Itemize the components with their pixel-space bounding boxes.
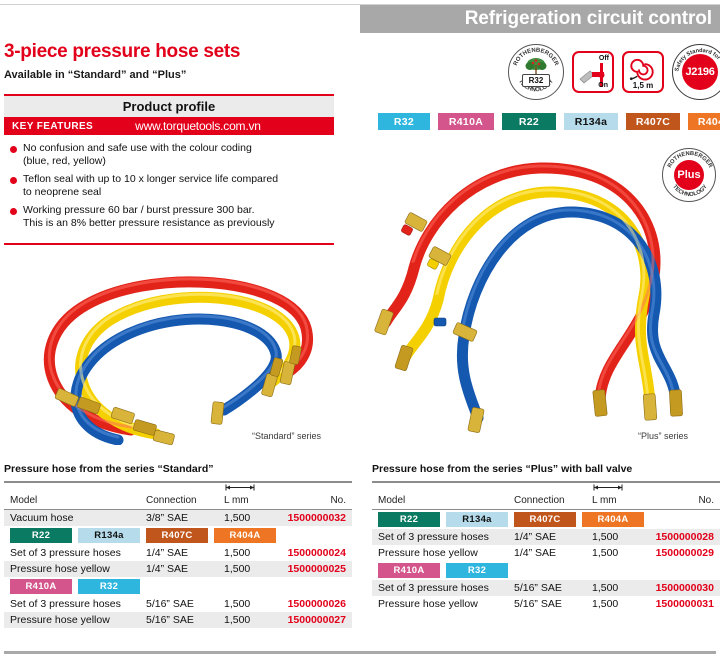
bottom-divider: [4, 651, 716, 654]
cell-article-number: 1500000031: [646, 598, 720, 610]
cell-model: Pressure hose yellow: [372, 598, 514, 610]
page-subtitle: Available in “Standard” and “Plus”: [4, 68, 352, 82]
column-header-length: L mm: [592, 495, 646, 506]
cell-connection: 1/4” SAE: [146, 547, 224, 559]
refrigerant-badge-r32: R32: [78, 579, 140, 594]
cell-model: Set of 3 pressure hoses: [372, 582, 514, 594]
column-header-length: L mm: [224, 495, 278, 506]
cell-article-number: 1500000029: [646, 547, 720, 559]
column-header-number: No.: [646, 495, 720, 506]
cell-length: 1,500: [592, 598, 646, 610]
refrigerant-badge-r134a: R134a: [564, 113, 618, 130]
cell-connection: 5/16” SAE: [514, 582, 592, 594]
valve-lever-glyph: [574, 53, 616, 95]
product-profile-label: Product profile: [123, 99, 215, 114]
column-header-model: Model: [4, 495, 146, 506]
refrigerant-badge-r22: R22: [502, 113, 556, 130]
left-column: 3-piece pressure hose sets Available in …: [4, 40, 352, 245]
valve-on-label: On: [598, 82, 608, 89]
page-header-title: Refrigeration circuit control: [465, 8, 712, 30]
cell-article-number: 1500000028: [646, 531, 720, 543]
refrigerant-code-r32: R32: [522, 74, 550, 87]
column-header-connection: Connection: [146, 495, 224, 506]
table-header-row: Model Connection L mm No.: [4, 483, 352, 509]
cell-length: 1,500: [592, 531, 646, 543]
refrigerant-badge-r22: R22: [10, 528, 72, 543]
bullet-icon: [10, 177, 17, 184]
standard-table-body: Vacuum hose3/8” SAE1,5001500000032R22R13…: [4, 510, 352, 628]
key-feature-text: Working pressure 60 bar / burst pressure…: [23, 204, 275, 230]
refrigerant-badge-r32: R32: [378, 113, 430, 130]
table-refrigerant-badge-row: R22R134aR407CR404A: [372, 510, 720, 529]
cell-connection: 5/16” SAE: [146, 614, 224, 626]
hose-length-label: 1,5 m: [624, 81, 662, 90]
cell-connection: 1/4” SAE: [514, 531, 592, 543]
cell-article-number: 1500000027: [278, 614, 352, 626]
column-header-model: Model: [372, 495, 514, 506]
website-url[interactable]: www.torquetools.com.vn: [135, 119, 261, 133]
ball-valve-off-on-icon: Off On: [572, 51, 614, 93]
cell-connection: 5/16” SAE: [514, 598, 592, 610]
column-header-number: No.: [278, 495, 352, 506]
bullet-icon: [10, 208, 17, 215]
cell-model: Set of 3 pressure hoses: [4, 598, 146, 610]
profile-bottom-rule: [4, 243, 334, 245]
key-features-label: KEY FEATURES: [12, 121, 93, 132]
cell-connection: 3/8” SAE: [146, 512, 224, 524]
cell-article-number: 1500000025: [278, 563, 352, 575]
refrigerant-badge-r407c: R407C: [514, 512, 576, 527]
key-feature-item: Teflon seal with up to 10 x longer servi…: [8, 173, 330, 199]
refrigerant-badge-r407c: R407C: [626, 113, 680, 130]
sae-j2196-safety-standard-icon: Safety Standard for SAE J2196: [672, 44, 720, 100]
certification-logo-row: ROTHENBERGER TECHNOLOGY R32: [508, 44, 720, 100]
hose-length-icon: 1,5 m: [622, 51, 664, 93]
table-row[interactable]: Set of 3 pressure hoses1/4” SAE1,5001500…: [4, 545, 352, 561]
page-title: 3-piece pressure hose sets: [4, 40, 352, 64]
cell-connection: 1/4” SAE: [146, 563, 224, 575]
standard-hose-set-photo: [6, 250, 356, 445]
sae-standard-code: J2196: [682, 54, 718, 90]
standard-series-caption: “Standard” series: [252, 431, 321, 441]
key-feature-text: Teflon seal with up to 10 x longer servi…: [23, 173, 278, 199]
product-profile-box: Product profile KEY FEATURES www.torquet…: [4, 94, 334, 245]
cell-model: Set of 3 pressure hoses: [372, 531, 514, 543]
refrigerant-badge-r404a: R404A: [582, 512, 644, 527]
plus-series-table: Pressure hose from the series “Plus” wit…: [372, 463, 720, 612]
cell-article-number: 1500000024: [278, 547, 352, 559]
table-refrigerant-badge-row: R410AR32: [372, 561, 720, 580]
refrigerant-badge-r407c: R407C: [146, 528, 208, 543]
refrigerant-badge-r134a: R134a: [78, 528, 140, 543]
cell-length: 1,500: [592, 547, 646, 559]
cell-model: Pressure hose yellow: [4, 614, 146, 626]
plus-table-title: Pressure hose from the series “Plus” wit…: [372, 463, 720, 475]
cell-model: Pressure hose yellow: [372, 547, 514, 559]
cell-length: 1,500: [224, 563, 278, 575]
cell-model: Vacuum hose: [4, 512, 146, 524]
cell-length: 1,500: [224, 547, 278, 559]
table-row[interactable]: Pressure hose yellow5/16” SAE1,500150000…: [372, 596, 720, 612]
refrigerant-badge-r32: R32: [446, 563, 508, 578]
column-header-length-text: L mm: [224, 495, 249, 506]
refrigerant-badge-r410a: R410A: [378, 563, 440, 578]
cell-article-number: 1500000032: [278, 512, 352, 524]
key-features-bar: KEY FEATURES www.torquetools.com.vn: [4, 117, 334, 135]
table-refrigerant-badge-row: R410AR32: [4, 577, 352, 596]
refrigerant-badge-r410a: R410A: [10, 579, 72, 594]
table-row[interactable]: Vacuum hose3/8” SAE1,5001500000032: [4, 510, 352, 526]
cell-model: Pressure hose yellow: [4, 563, 146, 575]
product-profile-header: Product profile: [4, 96, 334, 117]
cell-length: 1,500: [592, 582, 646, 594]
key-feature-item: No confusion and safe use with the colou…: [8, 142, 330, 168]
bullet-icon: [10, 146, 17, 153]
column-header-length-text: L mm: [592, 495, 617, 506]
table-header-row: Model Connection L mm No.: [372, 483, 720, 509]
dimension-arrow-icon: [592, 484, 624, 491]
table-row[interactable]: Pressure hose yellow1/4” SAE1,5001500000…: [372, 545, 720, 561]
cell-length: 1,500: [224, 512, 278, 524]
key-feature-item: Working pressure 60 bar / burst pressure…: [8, 204, 330, 230]
page-header-band: Refrigeration circuit control: [360, 5, 720, 33]
table-refrigerant-badge-row: R22R134aR407CR404A: [4, 526, 352, 545]
key-feature-text: No confusion and safe use with the colou…: [23, 142, 252, 168]
refrigerant-badge-r410a: R410A: [438, 113, 494, 130]
cell-connection: 5/16” SAE: [146, 598, 224, 610]
cell-length: 1,500: [224, 614, 278, 626]
table-row[interactable]: Set of 3 pressure hoses1/4” SAE1,5001500…: [372, 529, 720, 545]
standard-series-table: Pressure hose from the series “Standard”…: [4, 463, 352, 628]
table-row[interactable]: Set of 3 pressure hoses5/16” SAE1,500150…: [4, 596, 352, 612]
cell-length: 1,500: [224, 598, 278, 610]
valve-off-label: Off: [599, 55, 609, 62]
table-row[interactable]: Pressure hose yellow5/16” SAE1,500150000…: [4, 612, 352, 628]
plus-table-body: R22R134aR407CR404ASet of 3 pressure hose…: [372, 510, 720, 612]
standard-table-title: Pressure hose from the series “Standard”: [4, 463, 352, 475]
rothenberger-r32-technology-icon: ROTHENBERGER TECHNOLOGY R32: [508, 44, 564, 100]
refrigerant-badge-r404a: R404A: [688, 113, 720, 130]
refrigerant-badge-r22: R22: [378, 512, 440, 527]
dimension-arrow-icon: [224, 484, 256, 491]
cell-model: Set of 3 pressure hoses: [4, 547, 146, 559]
refrigerant-badge-r134a: R134a: [446, 512, 508, 527]
cell-article-number: 1500000030: [646, 582, 720, 594]
cell-connection: 1/4” SAE: [514, 547, 592, 559]
plus-series-caption: “Plus” series: [638, 431, 688, 441]
plus-hose-set-photo: [372, 150, 712, 440]
refrigerant-badge-row: R32R410AR22R134aR407CR404A: [378, 113, 720, 130]
table-row[interactable]: Pressure hose yellow1/4” SAE1,5001500000…: [4, 561, 352, 577]
cell-article-number: 1500000026: [278, 598, 352, 610]
refrigerant-badge-r404a: R404A: [214, 528, 276, 543]
table-row[interactable]: Set of 3 pressure hoses5/16” SAE1,500150…: [372, 580, 720, 596]
catalog-page: Refrigeration circuit control 3-piece pr…: [0, 0, 720, 660]
key-features-list: No confusion and safe use with the colou…: [4, 135, 334, 241]
column-header-connection: Connection: [514, 495, 592, 506]
